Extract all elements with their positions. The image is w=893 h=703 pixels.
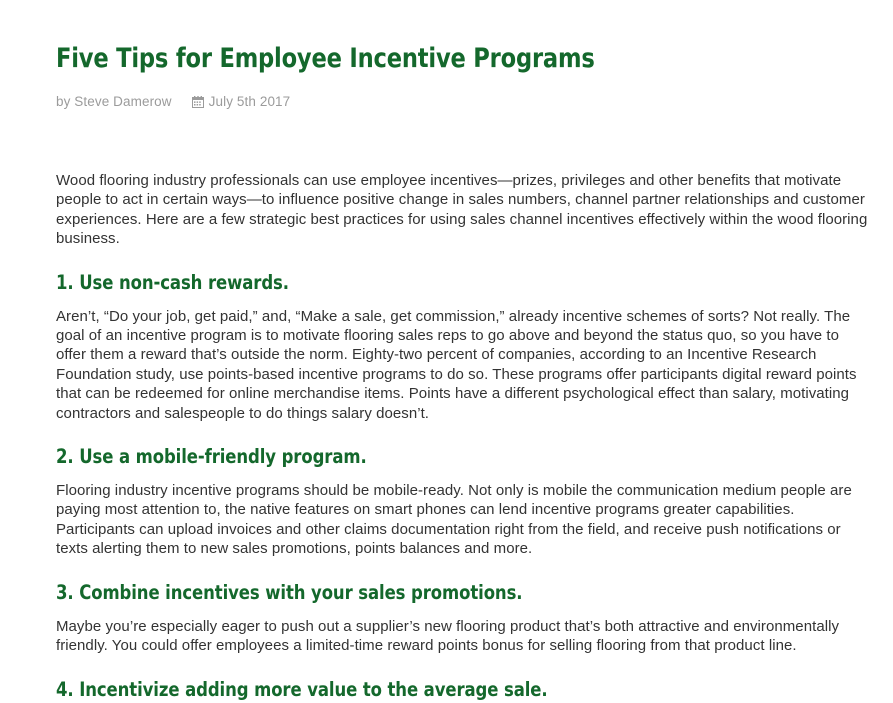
byline-author: by Steve Damerow xyxy=(56,93,172,111)
intro-paragraph: Wood flooring industry professionals can… xyxy=(56,111,869,249)
byline: by Steve Damerow July 5th 2017 xyxy=(56,93,869,111)
section-heading-3: 3. Combine incentives with your sales pr… xyxy=(56,559,820,606)
section-body-2: Flooring industry incentive programs sho… xyxy=(56,470,869,559)
section-body-3: Maybe you’re especially eager to push ou… xyxy=(56,606,869,656)
byline-date: July 5th 2017 xyxy=(209,93,291,111)
section-body-1: Aren’t, “Do your job, get paid,” and, “M… xyxy=(56,296,869,423)
section-heading-4: 4. Incentivize adding more value to the … xyxy=(56,656,820,703)
section-heading-1: 1. Use non-cash rewards. xyxy=(56,249,820,296)
article-container: Five Tips for Employee Incentive Program… xyxy=(0,0,893,703)
section-heading-2: 2. Use a mobile-friendly program. xyxy=(56,423,820,470)
byline-date-group: July 5th 2017 xyxy=(192,93,291,111)
calendar-icon xyxy=(192,96,204,108)
page-title: Five Tips for Employee Incentive Program… xyxy=(56,0,812,76)
